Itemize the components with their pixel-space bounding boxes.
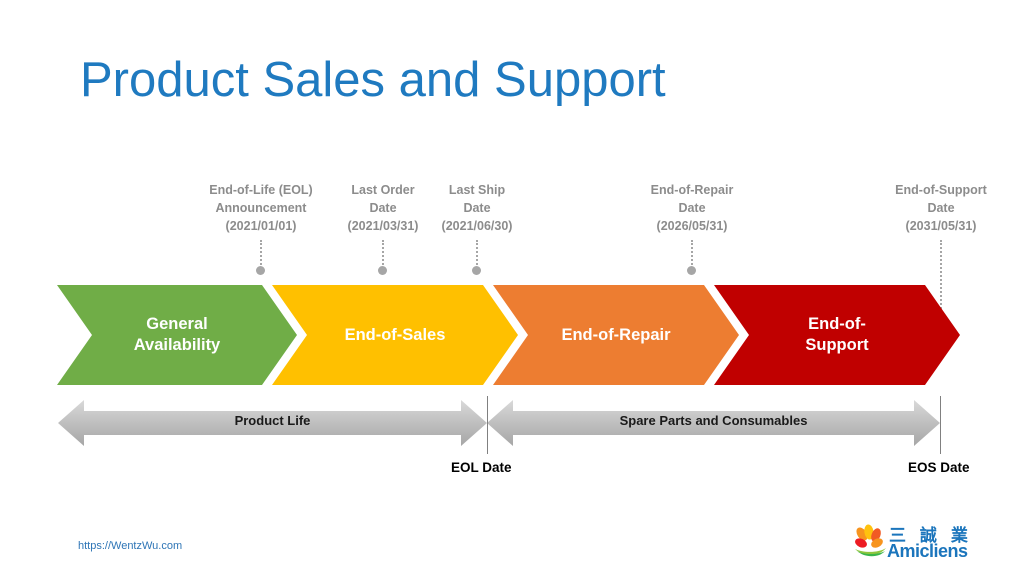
span-product-life: Product Life: [58, 400, 487, 446]
callout-line1: End-of-Support: [866, 181, 1016, 199]
leader-line-last-ship-date: [476, 240, 480, 269]
logo-wordmark: Amicliens: [887, 541, 968, 562]
callout-end-of-support-date: End-of-Support Date (2031/05/31): [866, 181, 1016, 235]
span-spare-parts: Spare Parts and Consumables: [487, 400, 940, 446]
phase-end-of-sales[interactable]: End-of-Sales: [272, 285, 518, 385]
leader-dot-last-order-date: [378, 266, 387, 275]
leader-line-end-of-repair-date: [691, 240, 695, 269]
leader-dot-last-ship-date: [472, 266, 481, 275]
boundary-label-eos-date: EOS Date: [908, 460, 970, 475]
callout-line2: Date: [333, 199, 433, 217]
callout-date: (2021/01/01): [191, 217, 331, 235]
boundary-label-eol-date: EOL Date: [451, 460, 512, 475]
leader-line-last-order-date: [382, 240, 386, 269]
callout-eol-announcement: End-of-Life (EOL) Announcement (2021/01/…: [191, 181, 331, 235]
slide-canvas: Product Sales and Support End-of-Life (E…: [0, 0, 1024, 576]
leader-dot-end-of-repair-date: [687, 266, 696, 275]
callout-date: (2031/05/31): [866, 217, 1016, 235]
callout-line1: End-of-Repair: [622, 181, 762, 199]
phase-label: End-of-Support: [805, 314, 868, 355]
callout-last-ship-date: Last Ship Date (2021/06/30): [427, 181, 527, 235]
leader-dot-eol-announcement: [256, 266, 265, 275]
callout-date: (2026/05/31): [622, 217, 762, 235]
footer-url-link[interactable]: https://WentzWu.com: [78, 540, 182, 552]
span-label: Product Life: [58, 413, 487, 428]
callout-line2: Date: [622, 199, 762, 217]
flower-mark-icon: [853, 524, 887, 558]
phase-general-availability[interactable]: GeneralAvailability: [57, 285, 297, 385]
lifecycle-chevron-band: GeneralAvailability End-of-Sales End-of-…: [0, 285, 1024, 385]
callout-line1: Last Ship: [427, 181, 527, 199]
callout-date: (2021/06/30): [427, 217, 527, 235]
callout-line2: Announcement: [191, 199, 331, 217]
callout-line1: Last Order: [333, 181, 433, 199]
callout-line2: Date: [427, 199, 527, 217]
callout-line1: End-of-Life (EOL): [191, 181, 331, 199]
tick-eos-date: [940, 396, 941, 454]
phase-label: End-of-Repair: [561, 325, 670, 346]
callout-date: (2021/03/31): [333, 217, 433, 235]
phase-end-of-repair[interactable]: End-of-Repair: [493, 285, 739, 385]
amicliens-logo: 三 誠 業 Amicliens: [853, 521, 963, 567]
leader-line-eol-announcement: [260, 240, 264, 269]
span-label: Spare Parts and Consumables: [487, 413, 940, 428]
callout-end-of-repair-date: End-of-Repair Date (2026/05/31): [622, 181, 762, 235]
callout-last-order-date: Last Order Date (2021/03/31): [333, 181, 433, 235]
phase-label: End-of-Sales: [345, 325, 446, 346]
phase-label: GeneralAvailability: [134, 314, 221, 355]
page-title: Product Sales and Support: [80, 52, 666, 108]
callout-line2: Date: [866, 199, 1016, 217]
phase-end-of-support[interactable]: End-of-Support: [714, 285, 960, 385]
